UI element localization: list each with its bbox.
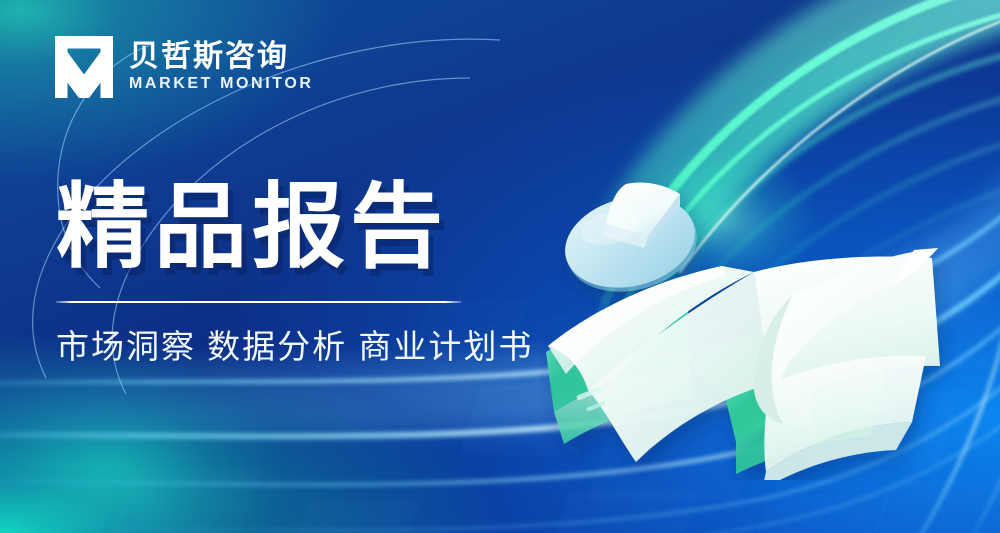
page-subtitle: 市场洞察 数据分析 商业计划书 [56, 330, 526, 363]
headline-block: 精品报告 市场洞察 数据分析 商业计划书 [56, 178, 526, 363]
logo-company-name-cn: 贝哲斯咨询 [129, 42, 314, 72]
report-banner: 贝哲斯咨询 MARKET MONITOR [0, 0, 1000, 533]
title-divider [56, 301, 461, 303]
logo-company-name-en: MARKET MONITOR [129, 76, 314, 92]
market-monitor-m-mark-icon [55, 36, 113, 98]
brand-logo[interactable]: 贝哲斯咨询 MARKET MONITOR [55, 36, 314, 98]
open-book-illustration [540, 150, 960, 480]
page-title: 精品报告 [56, 178, 526, 277]
